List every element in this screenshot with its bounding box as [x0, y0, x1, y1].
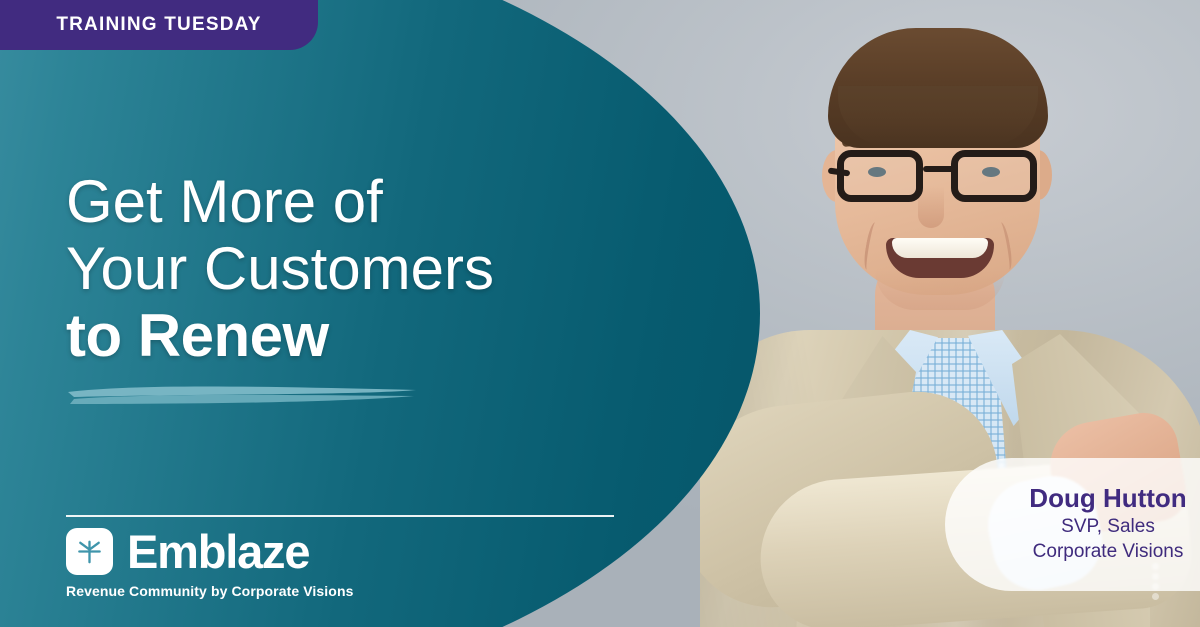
training-tuesday-ribbon: TRAINING TUESDAY [0, 0, 318, 50]
glasses-lens-right [951, 150, 1037, 202]
portrait-hair [828, 28, 1048, 148]
speaker-name: Doug Hutton [1029, 484, 1186, 514]
headline-line-1: Get More of [66, 168, 686, 235]
emblaze-tagline: Revenue Community by Corporate Visions [66, 583, 354, 599]
emblaze-asterisk-icon [66, 528, 113, 575]
glasses-lens-left [837, 150, 923, 202]
logo-divider [66, 515, 614, 517]
emblaze-wordmark: Emblaze [127, 528, 309, 575]
speaker-company: Corporate Visions [1033, 539, 1184, 565]
asterisk-glyph [74, 536, 105, 567]
glasses-bridge [923, 166, 955, 172]
headline-line-2: Your Customers [66, 235, 686, 302]
speaker-name-card: Doug Hutton SVP, Sales Corporate Visions [945, 458, 1200, 591]
brush-stroke-underline-icon [64, 382, 424, 408]
emblaze-logo: Emblaze [66, 528, 309, 575]
portrait-mouth [886, 238, 994, 278]
training-tuesday-promo-graphic: TRAINING TUESDAY Get More of Your Custom… [0, 0, 1200, 627]
headline-block: Get More of Your Customers to Renew [66, 168, 686, 370]
speaker-title: SVP, Sales [1061, 514, 1155, 540]
headline-line-3: to Renew [66, 302, 686, 369]
portrait-teeth [892, 238, 988, 258]
eyeglasses-icon [833, 150, 1048, 204]
ribbon-label: TRAINING TUESDAY [56, 14, 261, 36]
